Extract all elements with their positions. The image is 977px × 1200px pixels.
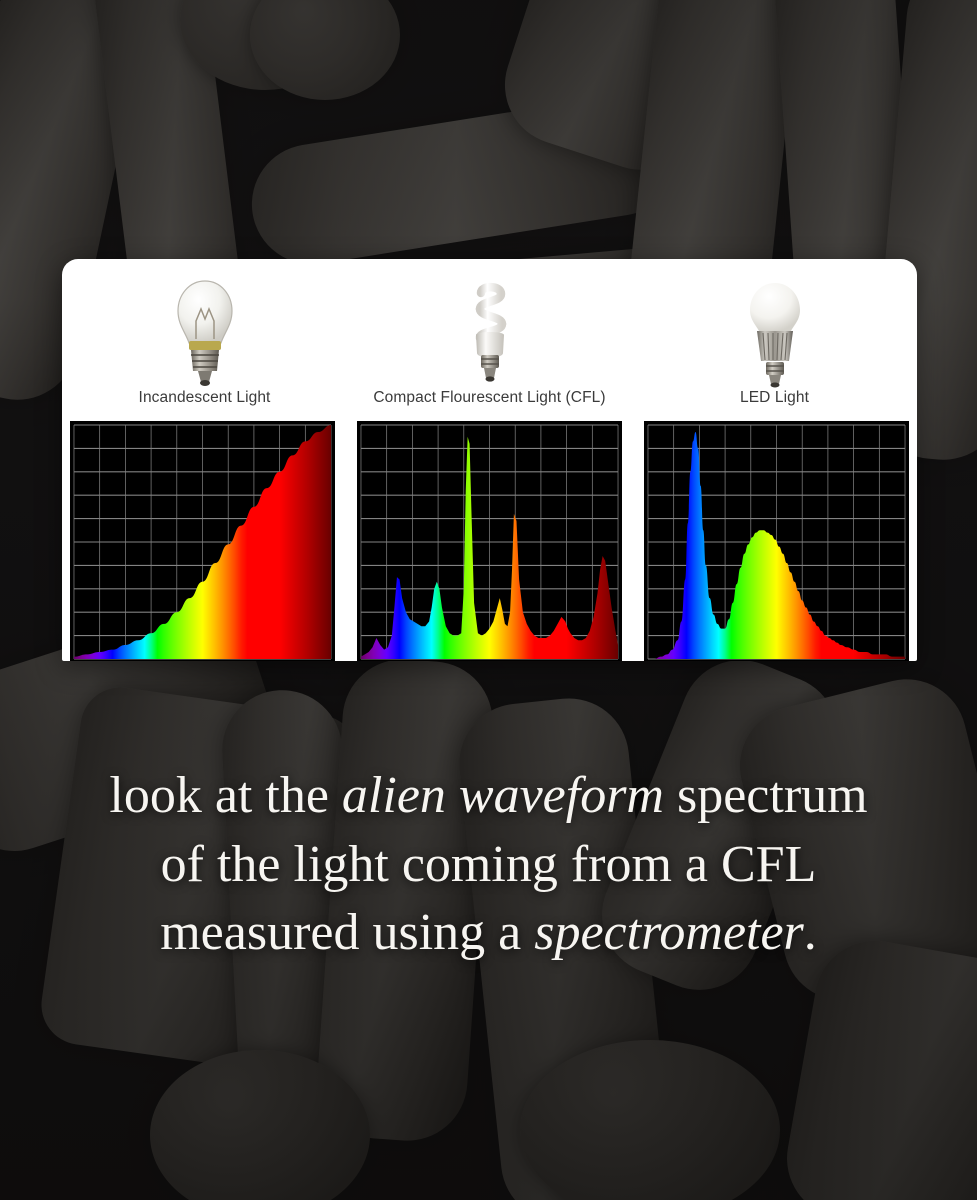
panel-label-incandescent: Incandescent Light [62, 389, 347, 421]
caption-line3-a: measured using a [160, 904, 534, 961]
panel-label-row: Incandescent Light Compact Flourescent L… [62, 389, 917, 421]
panel-label-cfl: Compact Flourescent Light (CFL) [347, 389, 632, 421]
caption-line3-emphasis: spectrometer [534, 904, 804, 961]
spectrum-chart-cfl: 380420460500540580620660700740780 [357, 421, 622, 661]
caption-line-1: look at the alien waveform spectrum [0, 762, 977, 831]
caption-line-2: of the light coming from a CFL [0, 831, 977, 900]
spectrum-chart-incandescent: 380420460500540580620660700740780 [70, 421, 335, 661]
bulb-cell-led [632, 259, 917, 389]
panel-label-led: LED Light [632, 389, 917, 421]
caption-line1-b: spectrum [664, 767, 868, 824]
chart-plot-led [644, 421, 909, 661]
cfl-spiral-bulb-icon [459, 277, 521, 389]
bulb-cell-incandescent [62, 259, 347, 389]
spectrum-chart-row: 380420460500540580620660700740780 380420… [62, 421, 917, 661]
chart-plot-cfl [357, 421, 622, 661]
caption-line1-emphasis: alien waveform [342, 767, 664, 824]
caption-line1-a: look at the [109, 767, 342, 824]
bulb-image-row [62, 259, 917, 389]
incandescent-bulb-icon [174, 277, 236, 389]
caption-line3-b: . [804, 904, 817, 961]
spectrum-chart-led: 380420460500540580620660700740780 [644, 421, 909, 661]
caption-text: look at the alien waveform spectrum of t… [0, 762, 977, 968]
caption-line-3: measured using a spectrometer. [0, 899, 977, 968]
chart-plot-incandescent [70, 421, 335, 661]
bulb-cell-cfl [347, 259, 632, 389]
spectrum-comparison-card: Incandescent Light Compact Flourescent L… [62, 259, 917, 661]
led-bulb-icon [744, 277, 806, 389]
